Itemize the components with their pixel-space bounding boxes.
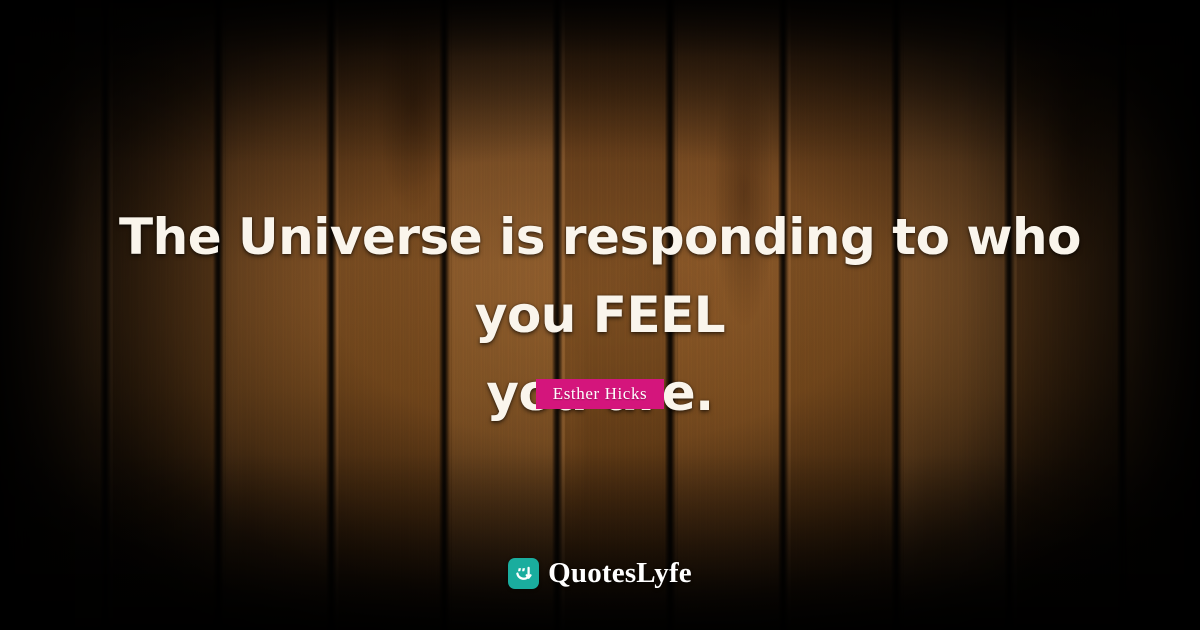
brand-logo[interactable]: QuotesLyfe	[0, 558, 1200, 589]
brand-name: QuotesLyfe	[548, 559, 692, 588]
author-container: Esther Hicks	[0, 379, 1200, 409]
card-content: The Universe is responding to who you FE…	[0, 0, 1200, 630]
quote-smiley-icon	[508, 558, 539, 589]
author-badge: Esther Hicks	[536, 379, 665, 409]
quote-card: The Universe is responding to who you FE…	[0, 0, 1200, 630]
